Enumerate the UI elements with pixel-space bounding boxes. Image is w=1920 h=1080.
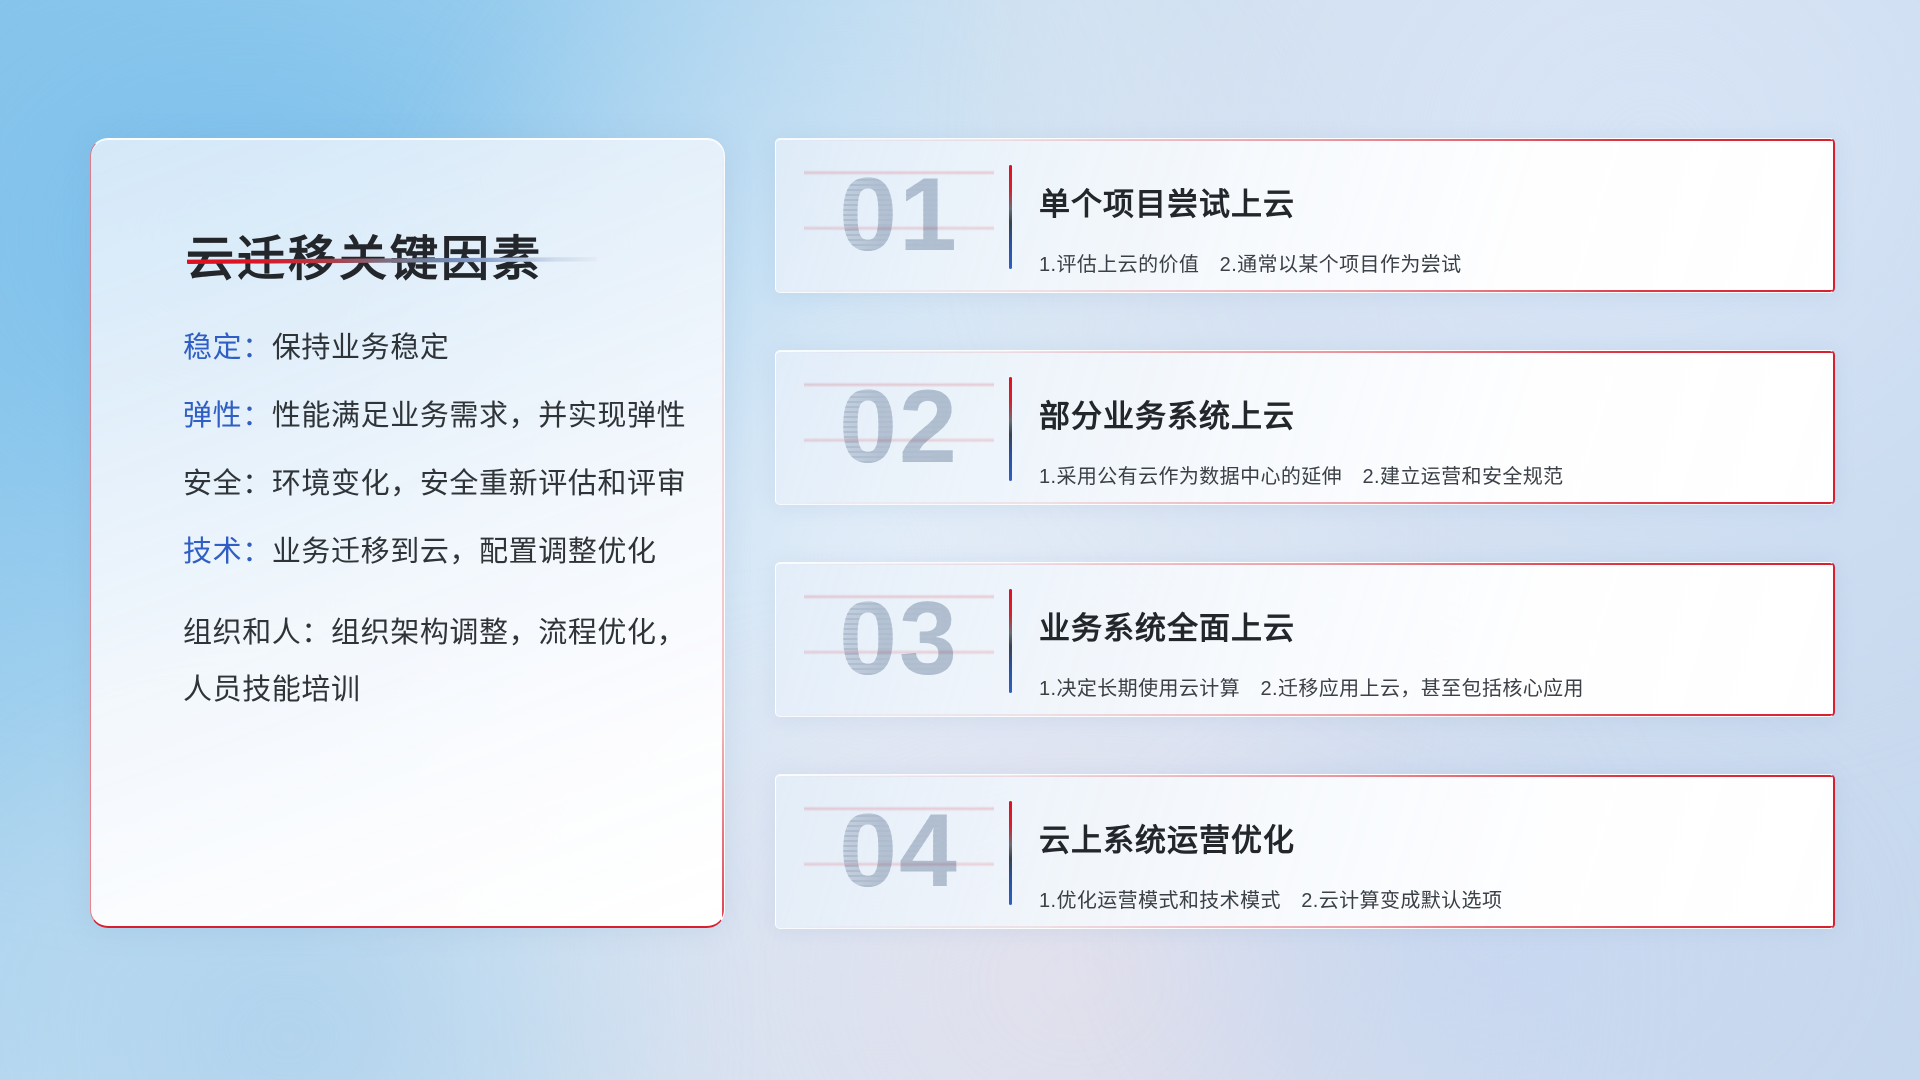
card-divider-accent — [1009, 589, 1012, 693]
page-title: 云迁移关键因素 — [186, 219, 543, 289]
slide-stage: 云迁移关键因素 稳定：保持业务稳定弹性：性能满足业务需求，并实现弹性安全：环境变… — [0, 0, 1920, 1080]
card-body: 单个项目尝试上云1.评估上云的价值 2.通常以某个项目作为尝试 — [1039, 159, 1803, 293]
card-divider-accent — [1009, 801, 1012, 905]
factor-value: 保持业务稳定 — [272, 332, 450, 364]
card-divider-accent — [1009, 165, 1012, 269]
factor-value: 性能满足业务需求，并实现弹性 — [272, 400, 686, 432]
stage-number: 01 — [804, 149, 994, 281]
factor-list: 稳定：保持业务稳定弹性：性能满足业务需求，并实现弹性安全：环境变化，安全重新评估… — [183, 334, 688, 725]
factor-item: 组织和人：组织架构调整，流程优化，人员技能培训 — [183, 605, 688, 718]
card-body: 业务系统全面上云1.决定长期使用云计算 2.迁移应用上云，甚至包括核心应用 — [1039, 583, 1803, 717]
card-title: 部分业务系统上云 — [1039, 397, 1803, 437]
factor-item: 弹性：性能满足业务需求，并实现弹性 — [183, 402, 688, 432]
stage-number: 04 — [804, 785, 994, 917]
factor-value: 环境变化，安全重新评估和评审 — [272, 468, 686, 500]
card-description: 1.评估上云的价值 2.通常以某个项目作为尝试 — [1039, 251, 1803, 279]
key-factors-panel: 云迁移关键因素 稳定：保持业务稳定弹性：性能满足业务需求，并实现弹性安全：环境变… — [90, 138, 725, 928]
stage-number: 03 — [804, 573, 994, 705]
stage-card[interactable]: 01单个项目尝试上云1.评估上云的价值 2.通常以某个项目作为尝试 — [775, 138, 1835, 293]
card-body: 部分业务系统上云1.采用公有云作为数据中心的延伸 2.建立运营和安全规范 — [1039, 371, 1803, 505]
card-divider-accent — [1009, 377, 1012, 481]
factor-label: 稳定： — [183, 332, 272, 364]
stage-card[interactable]: 03业务系统全面上云1.决定长期使用云计算 2.迁移应用上云，甚至包括核心应用 — [775, 562, 1835, 717]
card-description: 1.决定长期使用云计算 2.迁移应用上云，甚至包括核心应用 — [1039, 675, 1803, 703]
card-title: 业务系统全面上云 — [1039, 609, 1803, 649]
card-description: 1.采用公有云作为数据中心的延伸 2.建立运营和安全规范 — [1039, 463, 1803, 491]
stage-cards-list: 01单个项目尝试上云1.评估上云的价值 2.通常以某个项目作为尝试02部分业务系… — [775, 138, 1835, 929]
factor-item: 安全：环境变化，安全重新评估和评审 — [183, 470, 688, 500]
factor-label: 弹性： — [183, 400, 272, 432]
card-title: 云上系统运营优化 — [1039, 821, 1803, 861]
factor-label: 技术： — [183, 536, 272, 568]
factor-item: 稳定：保持业务稳定 — [183, 334, 688, 364]
stage-card[interactable]: 04云上系统运营优化1.优化运营模式和技术模式 2.云计算变成默认选项 — [775, 774, 1835, 929]
factor-value: 业务迁移到云，配置调整优化 — [272, 536, 657, 568]
card-body: 云上系统运营优化1.优化运营模式和技术模式 2.云计算变成默认选项 — [1039, 795, 1803, 929]
factor-label: 安全： — [183, 468, 272, 500]
stage-card[interactable]: 02部分业务系统上云1.采用公有云作为数据中心的延伸 2.建立运营和安全规范 — [775, 350, 1835, 505]
card-description: 1.优化运营模式和技术模式 2.云计算变成默认选项 — [1039, 887, 1803, 915]
stage-number: 02 — [804, 361, 994, 493]
card-title: 单个项目尝试上云 — [1039, 185, 1803, 225]
factor-label: 组织和人： — [183, 617, 331, 649]
factor-item: 技术：业务迁移到云，配置调整优化 — [183, 538, 688, 568]
